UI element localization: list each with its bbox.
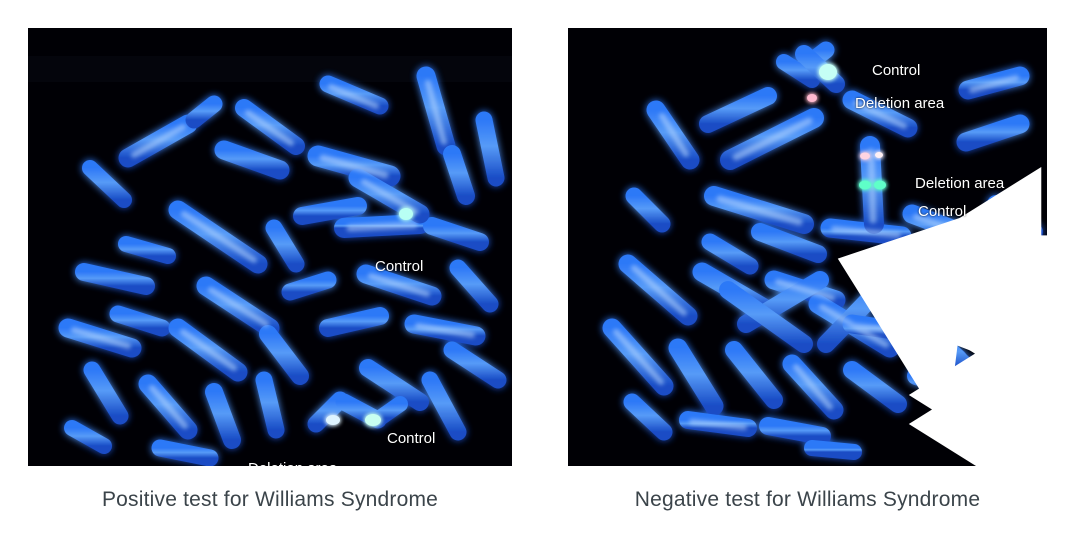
caption-positive: Positive test for Williams Syndrome <box>28 488 512 512</box>
caption-negative: Negative test for Williams Syndrome <box>568 488 1047 512</box>
control-signal <box>819 64 837 80</box>
control-signal <box>399 208 413 220</box>
micrograph-panel-negative: Control Deletion area Deletion area Cont… <box>568 28 1047 466</box>
fish-image-negative <box>568 28 1047 466</box>
control-signal <box>365 414 381 426</box>
deletion-signal <box>326 415 340 425</box>
control-signal <box>874 181 886 190</box>
deletion-signal <box>860 153 870 160</box>
deletion-signal <box>875 152 883 158</box>
micrograph-panel-positive: Control Control Deletion area <box>28 28 512 466</box>
deletion-signal <box>807 94 817 102</box>
control-signal <box>859 181 871 190</box>
figure-root: Control Control Deletion area <box>0 0 1070 546</box>
fish-image-positive <box>28 28 512 466</box>
